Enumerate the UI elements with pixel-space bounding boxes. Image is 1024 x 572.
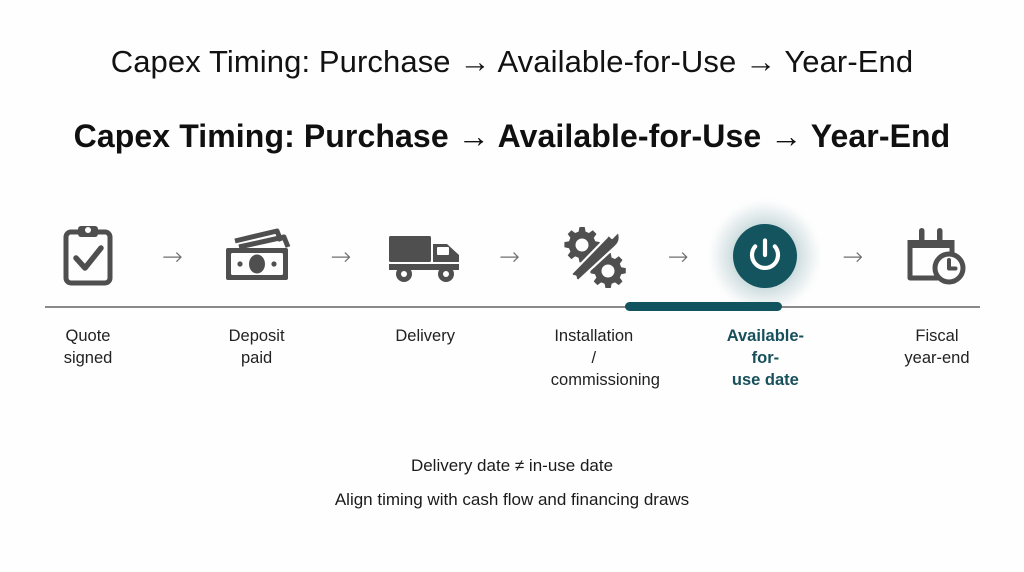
- timeline-stage-quote-signed[interactable]: [45, 208, 131, 304]
- timeline-label-quote-signed: Quote signed: [45, 326, 131, 370]
- timeline-label-line: use date: [719, 370, 811, 392]
- page-title-line-1: Capex Timing: Purchase → Available-for-U…: [0, 44, 1024, 80]
- capex-timeline: → →: [0, 208, 1024, 388]
- footer-notes: Delivery date ≠ in-use date Align timing…: [0, 456, 1024, 511]
- clipboard-check-icon: [62, 225, 114, 287]
- timeline-stage-installation[interactable]: [551, 208, 637, 304]
- timeline-arrow-2: →: [320, 244, 362, 269]
- timeline-label-line: Quote: [45, 326, 131, 348]
- title-block: Capex Timing: Purchase → Available-for-U…: [0, 44, 1024, 154]
- timeline-icon-row: → →: [45, 208, 980, 304]
- timeline-label-line: Delivery: [382, 326, 468, 348]
- footer-note-1: Delivery date ≠ in-use date: [0, 456, 1024, 476]
- timeline-label-fiscal-year-end: Fiscal year-end: [894, 326, 980, 370]
- timeline-arrow-1: →: [151, 244, 193, 269]
- timeline-label-row: Quote signed Deposit paid Delivery Insta…: [45, 326, 980, 391]
- power-button-icon: [733, 224, 797, 288]
- timeline-label-line: paid: [214, 348, 300, 370]
- footer-note-2: Align timing with cash flow and financin…: [0, 490, 1024, 510]
- timeline-stage-delivery[interactable]: [382, 208, 468, 304]
- timeline-label-line: Fiscal: [894, 326, 980, 348]
- timeline-label-line: commissioning: [551, 370, 637, 392]
- timeline-arrow-4: →: [657, 244, 699, 269]
- timeline-label-available-for-use: Available-for- use date: [719, 326, 811, 391]
- timeline-label-line: Installation /: [551, 326, 637, 370]
- timeline-arrow-5: →: [832, 244, 874, 269]
- timeline-axis-line: [45, 306, 980, 308]
- timeline-stage-fiscal-year-end[interactable]: [894, 208, 980, 304]
- cash-bills-icon: [222, 228, 292, 284]
- timeline-arrow-3: →: [488, 244, 530, 269]
- timeline-label-delivery: Delivery: [382, 326, 468, 348]
- page-title-line-2: Capex Timing: Purchase → Available-for-U…: [0, 118, 1024, 155]
- calendar-clock-icon: [906, 226, 968, 286]
- timeline-stage-available-for-use[interactable]: [719, 208, 811, 304]
- delivery-truck-icon: [387, 228, 463, 284]
- gears-wrench-icon: [561, 224, 627, 288]
- timeline-stage-deposit-paid[interactable]: [214, 208, 300, 304]
- timeline-axis-highlight-segment: [625, 302, 782, 311]
- timeline-label-installation: Installation / commissioning: [551, 326, 637, 391]
- timeline-label-deposit-paid: Deposit paid: [214, 326, 300, 370]
- timeline-label-line: year-end: [894, 348, 980, 370]
- timeline-label-line: signed: [45, 348, 131, 370]
- timeline-label-line: Deposit: [214, 326, 300, 348]
- timeline-label-line: Available-for-: [719, 326, 811, 370]
